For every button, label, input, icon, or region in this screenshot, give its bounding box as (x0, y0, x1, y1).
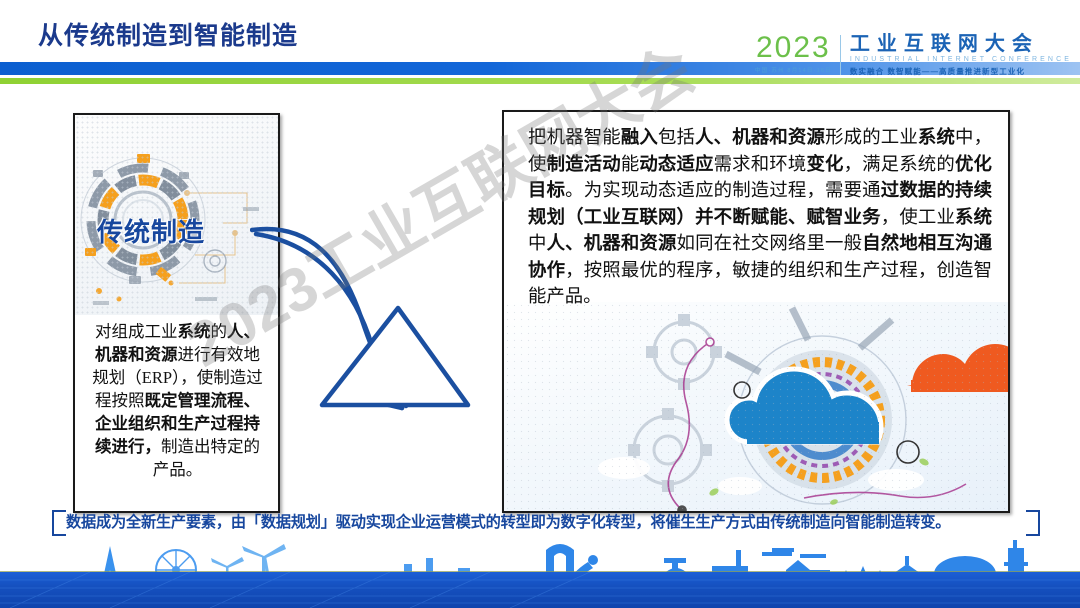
city-skyline-footer (0, 538, 1080, 608)
logo-divider (840, 35, 841, 75)
emphasis-run: 系统 (955, 207, 992, 227)
traditional-manufacturing-body: 对组成工业系统的人、机器和资源进行有效地规划（ERP），使制造过程按照既定管理流… (87, 320, 268, 481)
header-rule-green (0, 78, 1080, 84)
text-run: 对组成工业 (95, 322, 178, 341)
logo-name-cn: 工业互联网大会 (850, 33, 1072, 55)
text-run: ，按照最优的程序，敏捷的组织和生产过程，创造智能产品。 (528, 260, 992, 307)
text-run: 把机器智能 (528, 127, 621, 147)
emphasis-run: 系统 (918, 127, 955, 147)
slide-canvas: 从传统制造到智能制造 2023 中国·苏州 8月14日-16日 工业互联网大会 … (0, 0, 1080, 608)
logo-year: 2023 (755, 33, 832, 63)
emphasis-run: 人、机器和资源 (695, 127, 825, 147)
traditional-manufacturing-panel: 传统制造 对组成工业系统的人、机器和资源进行有效地规划（ERP），使制造过程按照… (73, 113, 280, 513)
emphasis-run: 变化 (806, 154, 843, 174)
smart-manufacturing-body: 把机器智能融入包括人、机器和资源形成的工业系统中，使制造活动能动态适应需求和环境… (528, 124, 992, 310)
emphasis-run: 系统 (178, 322, 211, 341)
emphasis-run: 动态适应 (639, 154, 713, 174)
skyline-water (0, 572, 1080, 608)
text-run: 需求和环境 (714, 154, 807, 174)
traditional-tech-graphic: 传统制造 (75, 115, 278, 315)
emphasis-run: 制造活动 (547, 154, 621, 174)
text-run: 。为实现动态适应的制造过程，需要通 (565, 180, 881, 200)
logo-year-block: 2023 中国·苏州 8月14日-16日 (755, 33, 840, 74)
text-run: 如同在社交网络里一般 (677, 233, 863, 253)
banner-bracket-left (52, 510, 66, 536)
conference-logo: 2023 中国·苏州 8月14日-16日 工业互联网大会 INDUSTRIAL … (755, 33, 1072, 77)
banner-bracket-right (1026, 510, 1040, 536)
logo-name-en: INDUSTRIAL INTERNET CONFERENCE (850, 56, 1072, 63)
text-run: ，使工业 (881, 207, 955, 227)
bottom-banner: 数据成为全新生产要素，由「数据规划」驱动实现企业运营模式的转型即为数字化转型，将… (66, 510, 1026, 536)
text-run: 形成的工业 (825, 127, 918, 147)
logo-location-date: 中国·苏州 8月14日-16日 (755, 66, 832, 74)
traditional-manufacturing-label: 传统制造 (97, 212, 205, 249)
transition-arrow (250, 200, 590, 450)
text-run: 制造出特定的产品。 (153, 437, 260, 479)
logo-name-block: 工业互联网大会 INDUSTRIAL INTERNET CONFERENCE 数… (850, 33, 1072, 77)
emphasis-run: 融入 (621, 127, 658, 147)
water-texture (0, 572, 1080, 608)
text-run: ，满足系统的 (844, 154, 955, 174)
logo-slogan: 数实融合 数智赋能——高质量推进新型工业化 (850, 66, 1072, 77)
page-title: 从传统制造到智能制造 (38, 16, 298, 52)
text-run: 包括 (658, 127, 695, 147)
text-run: 能 (621, 154, 640, 174)
banner-text: 数据成为全新生产要素，由「数据规划」驱动实现企业运营模式的转型即为数字化转型，将… (66, 510, 1026, 532)
text-run: 的 (211, 322, 228, 341)
